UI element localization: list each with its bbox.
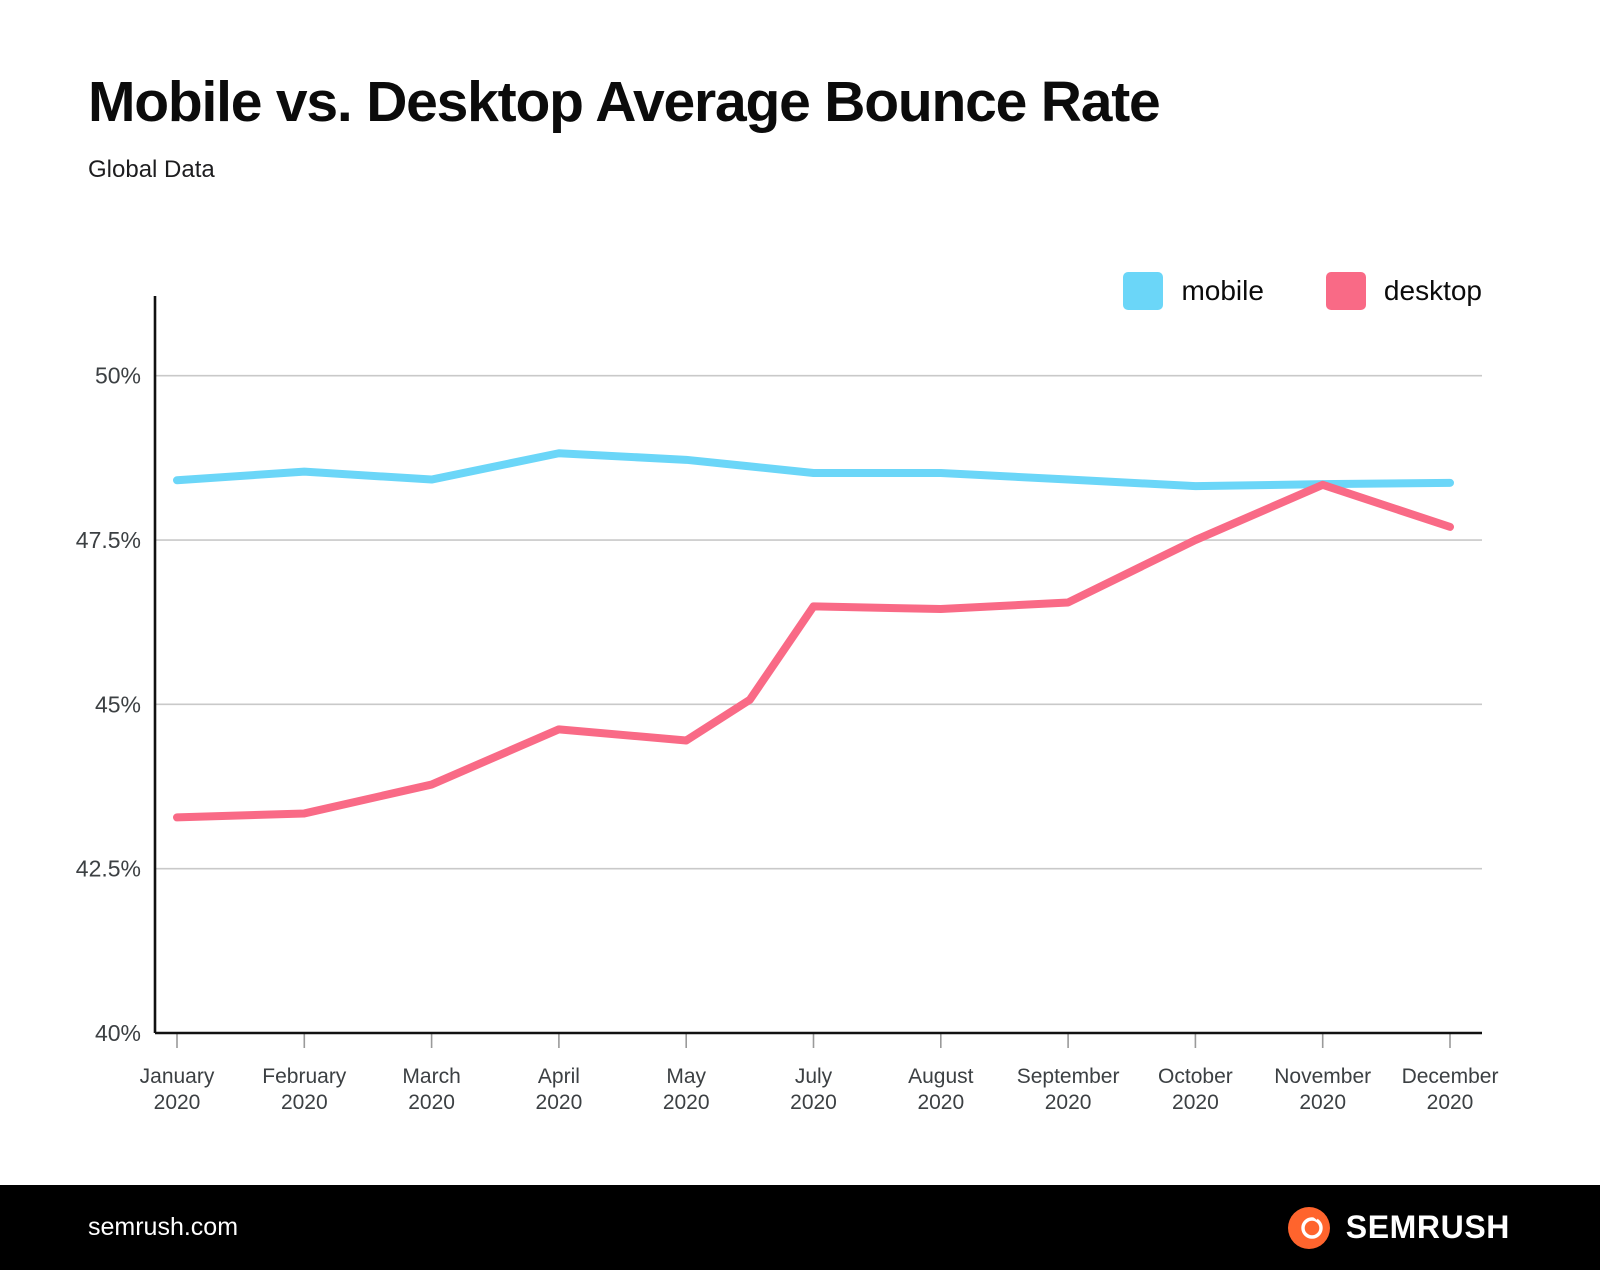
legend-item-mobile[interactable]: mobile — [1123, 272, 1263, 310]
brand-wordmark: SEMRUSH — [1346, 1209, 1510, 1246]
x-axis-tick-labels: January2020February2020March2020April202… — [140, 1065, 1499, 1114]
legend-swatch-mobile — [1123, 272, 1163, 310]
y-axis-tick-label: 45% — [95, 691, 141, 717]
legend-swatch-desktop — [1326, 272, 1366, 310]
chart-plot-area: 40%42.5%45%47.5%50% January2020February2… — [0, 0, 1600, 1270]
x-axis-tick-label: August2020 — [908, 1065, 974, 1114]
x-axis-tick-label: May2020 — [663, 1065, 710, 1114]
semrush-logo-icon — [1286, 1205, 1332, 1251]
page-subtitle: Global Data — [88, 156, 1508, 184]
y-axis-tick-label: 50% — [95, 363, 141, 389]
x-axis-tick-label: March2020 — [402, 1065, 460, 1114]
legend-label-desktop: desktop — [1384, 275, 1482, 307]
x-axis-tick-label: October2020 — [1158, 1065, 1233, 1114]
footer-url[interactable]: semrush.com — [88, 1213, 238, 1242]
legend-item-desktop[interactable]: desktop — [1326, 272, 1482, 310]
bounce-rate-infographic: Mobile vs. Desktop Average Bounce Rate G… — [0, 0, 1600, 1270]
x-axis-tick-marks — [177, 1033, 1450, 1048]
line-chart-svg: 40%42.5%45%47.5%50% January2020February2… — [0, 0, 1600, 1270]
footer-bar: semrush.com SEMRUSH — [0, 1185, 1600, 1270]
series-line-desktop — [177, 485, 1450, 818]
y-axis-tick-label: 47.5% — [76, 527, 141, 553]
x-axis-tick-label: December2020 — [1402, 1065, 1499, 1114]
series-line-mobile — [177, 453, 1450, 486]
x-axis-tick-label: November2020 — [1274, 1065, 1371, 1114]
x-axis-tick-label: July2020 — [790, 1065, 837, 1114]
chart-legend: mobile desktop — [1123, 272, 1482, 310]
chart-gridlines — [155, 376, 1482, 869]
y-axis-tick-label: 40% — [95, 1020, 141, 1046]
x-axis-tick-label: February2020 — [262, 1065, 347, 1114]
x-axis-tick-label: September2020 — [1017, 1065, 1120, 1114]
y-axis-tick-labels: 40%42.5%45%47.5%50% — [76, 363, 141, 1046]
header: Mobile vs. Desktop Average Bounce Rate G… — [88, 72, 1508, 184]
brand-logo: SEMRUSH — [1286, 1205, 1510, 1251]
page-title: Mobile vs. Desktop Average Bounce Rate — [88, 72, 1508, 134]
x-axis-tick-label: April2020 — [536, 1065, 583, 1114]
y-axis-tick-label: 42.5% — [76, 856, 141, 882]
x-axis-tick-label: January2020 — [140, 1065, 215, 1114]
legend-label-mobile: mobile — [1181, 275, 1263, 307]
